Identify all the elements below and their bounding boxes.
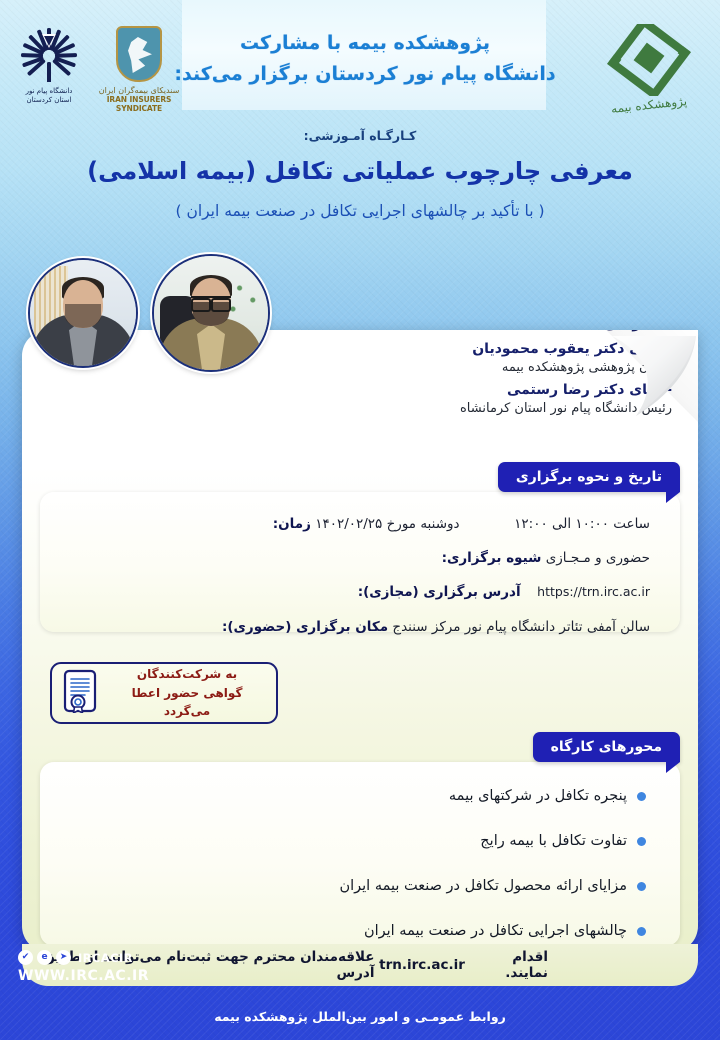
topic-item: پنجره تکافل در شرکتهای بیمه — [40, 788, 680, 804]
poster-root: پژوهشکده بیمه با مشارکت دانشگاه پیام نور… — [0, 0, 720, 1040]
speakers-label: سخنرانان: — [342, 330, 672, 332]
topics-panel: پنجره تکافل در شرکتهای بیمه تفاوت تکافل … — [40, 762, 680, 946]
topic-label: مزایای ارائه محصول تکافل در صنعت بیمه ای… — [339, 878, 627, 894]
schedule-row-mode-label: شیوه برگزاری: — [442, 550, 542, 566]
speaker-2-name: - آقای دکتر رضا رستمی — [342, 382, 672, 398]
iran-insurers-syndicate-logo: سندیکای بیمه‌گران ایران IRAN INSURERS SY… — [96, 26, 182, 113]
brand-block: ✔ e ➤ IRCACIR WWW.IRC.AC.IR — [18, 950, 149, 984]
main-content-card: سخنرانان: - آقای دکتر یعقوب محمودیان معا… — [22, 330, 698, 952]
speaker-entry-2: - آقای دکتر رضا رستمی رئیس دانشگاه پیام … — [342, 382, 672, 416]
bullet-icon — [637, 837, 646, 846]
topic-label: پنجره تکافل در شرکتهای بیمه — [449, 788, 627, 804]
organizer-title: پژوهشکده بیمه با مشارکت دانشگاه پیام نور… — [170, 28, 560, 90]
social-handle: IRCACIR — [78, 951, 133, 965]
schedule-row-venue: سالن آمفی تئاتر دانشگاه پیام نور مرکز سن… — [40, 601, 680, 635]
organizer-line-1: پژوهشکده بیمه با مشارکت — [170, 28, 560, 59]
syndicate-caption-fa: سندیکای بیمه‌گران ایران — [96, 86, 182, 95]
topic-item: چالشهای اجرایی تکافل در صنعت بیمه ایران — [40, 923, 680, 939]
certificate-box: به شرکت‌کنندگان گواهی حضور اعطا می‌گردد — [50, 662, 278, 724]
irc-logo-caption: پژوهشکده بیمه — [594, 92, 705, 117]
schedule-row-time-value2: ساعت ۱۰:۰۰ الی ۱۲:۰۰ — [514, 516, 650, 532]
topics-ribbon-tab: محورهای کارگاه — [533, 732, 680, 762]
schedule-row-time-label: زمان: — [273, 516, 311, 532]
social-links-row: ✔ e ➤ IRCACIR — [18, 950, 149, 965]
organizer-line-2: دانشگاه پیام نور کردستان برگزار می‌کند: — [170, 59, 560, 90]
left-logos-group: دانشگاه پیام نور استان کردستان سندیکای ب… — [12, 26, 182, 113]
department-credit: روابط عمومـی و امور بین‌الملل پژوهشکده ب… — [0, 1009, 720, 1024]
registration-notice-after: اقدام نمایند. — [470, 949, 548, 981]
payam-noor-caption-line-2: استان کردستان — [12, 96, 86, 105]
workshop-kicker: کـارگـاه آمـوزشی: — [0, 128, 720, 143]
payam-noor-caption: دانشگاه پیام نور استان کردستان — [12, 87, 86, 106]
bullet-icon — [637, 792, 646, 801]
bullet-icon — [637, 882, 646, 891]
eitaa-icon[interactable]: e — [37, 950, 52, 965]
schedule-online-url[interactable]: https://trn.irc.ac.ir — [537, 584, 650, 599]
poster-footer: اقدام نمایند. trn.irc.ac.ir علاقه‌مندان … — [0, 944, 720, 1040]
schedule-row-mode-value: حضوری و مـجـازی — [546, 550, 650, 566]
certificate-icon — [62, 669, 98, 717]
schedule-row-venue-label: مکان برگزاری (حضوری): — [222, 619, 388, 635]
schedule-row-mode: حضوری و مـجـازی شیوه برگزاری: — [40, 532, 680, 566]
schedule-row-online-address: https://trn.irc.ac.ir آدرس برگزاری (مجاز… — [40, 566, 680, 600]
workshop-subtitle: ( با تأکید بر چالشهای اجرایی تکافل در صن… — [0, 202, 720, 220]
certificate-line-1: به شرکت‌کنندگان — [108, 665, 266, 684]
page-title: معرفی چارچوب عملیاتی تکافل (بیمه اسلامی) — [0, 157, 720, 185]
schedule-row-online-label: آدرس برگزاری (مجازی): — [358, 584, 521, 600]
speakers-block: سخنرانان: - آقای دکتر یعقوب محمودیان معا… — [342, 330, 672, 416]
speaker-entry-1: - آقای دکتر یعقوب محمودیان معاون پژوهشی … — [342, 341, 672, 375]
schedule-ribbon-tab: تاریخ و نحوه برگزاری — [498, 462, 680, 492]
payam-noor-logo-icon — [12, 26, 86, 84]
registration-url[interactable]: trn.irc.ac.ir — [379, 957, 465, 973]
topic-item: تفاوت تکافل با بیمه رایج — [40, 833, 680, 849]
payam-noor-university-logo: دانشگاه پیام نور استان کردستان — [12, 26, 86, 106]
payam-noor-caption-line-1: دانشگاه پیام نور — [12, 87, 86, 96]
poster-header: پژوهشکده بیمه با مشارکت دانشگاه پیام نور… — [0, 0, 720, 250]
schedule-row-venue-value: سالن آمفی تئاتر دانشگاه پیام نور مرکز سن… — [392, 619, 650, 635]
avatar-speaker-2 — [152, 254, 270, 372]
syndicate-caption-en: IRAN INSURERS SYNDICATE — [96, 95, 182, 113]
speaker-photos — [28, 258, 270, 372]
syndicate-shield-icon — [116, 26, 162, 82]
glasses-icon — [191, 296, 231, 306]
speaker-2-role: رئیس دانشگاه پیام نور استان کرمانشاه — [342, 401, 672, 416]
topic-label: تفاوت تکافل با بیمه رایج — [480, 833, 627, 849]
certificate-line-2: گواهی حضور اعطا می‌گردد — [108, 684, 266, 721]
certificate-text: به شرکت‌کنندگان گواهی حضور اعطا می‌گردد — [108, 665, 266, 721]
speaker-1-role: معاون پژوهشی پژوهشکده بیمه — [342, 360, 672, 375]
schedule-panel: ساعت ۱۰:۰۰ الی ۱۲:۰۰ دوشنبه مورخ ۱۴۰۲/۰۲… — [40, 492, 680, 632]
topic-item: مزایای ارائه محصول تکافل در صنعت بیمه ای… — [40, 878, 680, 894]
schedule-row-time-value: دوشنبه مورخ ۱۴۰۲/۰۲/۲۵ — [315, 516, 459, 532]
insurance-research-center-logo: پژوهشکده بیمه — [594, 24, 704, 112]
speaker-1-name: - آقای دکتر یعقوب محمودیان — [342, 341, 672, 357]
irc-logo-icon — [594, 24, 704, 96]
website-url[interactable]: WWW.IRC.AC.IR — [18, 968, 149, 984]
telegram-icon[interactable]: ➤ — [56, 950, 71, 965]
avatar-speaker-1 — [28, 258, 138, 368]
bullet-icon — [637, 927, 646, 936]
topic-label: چالشهای اجرایی تکافل در صنعت بیمه ایران — [364, 923, 627, 939]
bale-icon[interactable]: ✔ — [18, 950, 33, 965]
schedule-row-time: ساعت ۱۰:۰۰ الی ۱۲:۰۰ دوشنبه مورخ ۱۴۰۲/۰۲… — [40, 492, 680, 532]
